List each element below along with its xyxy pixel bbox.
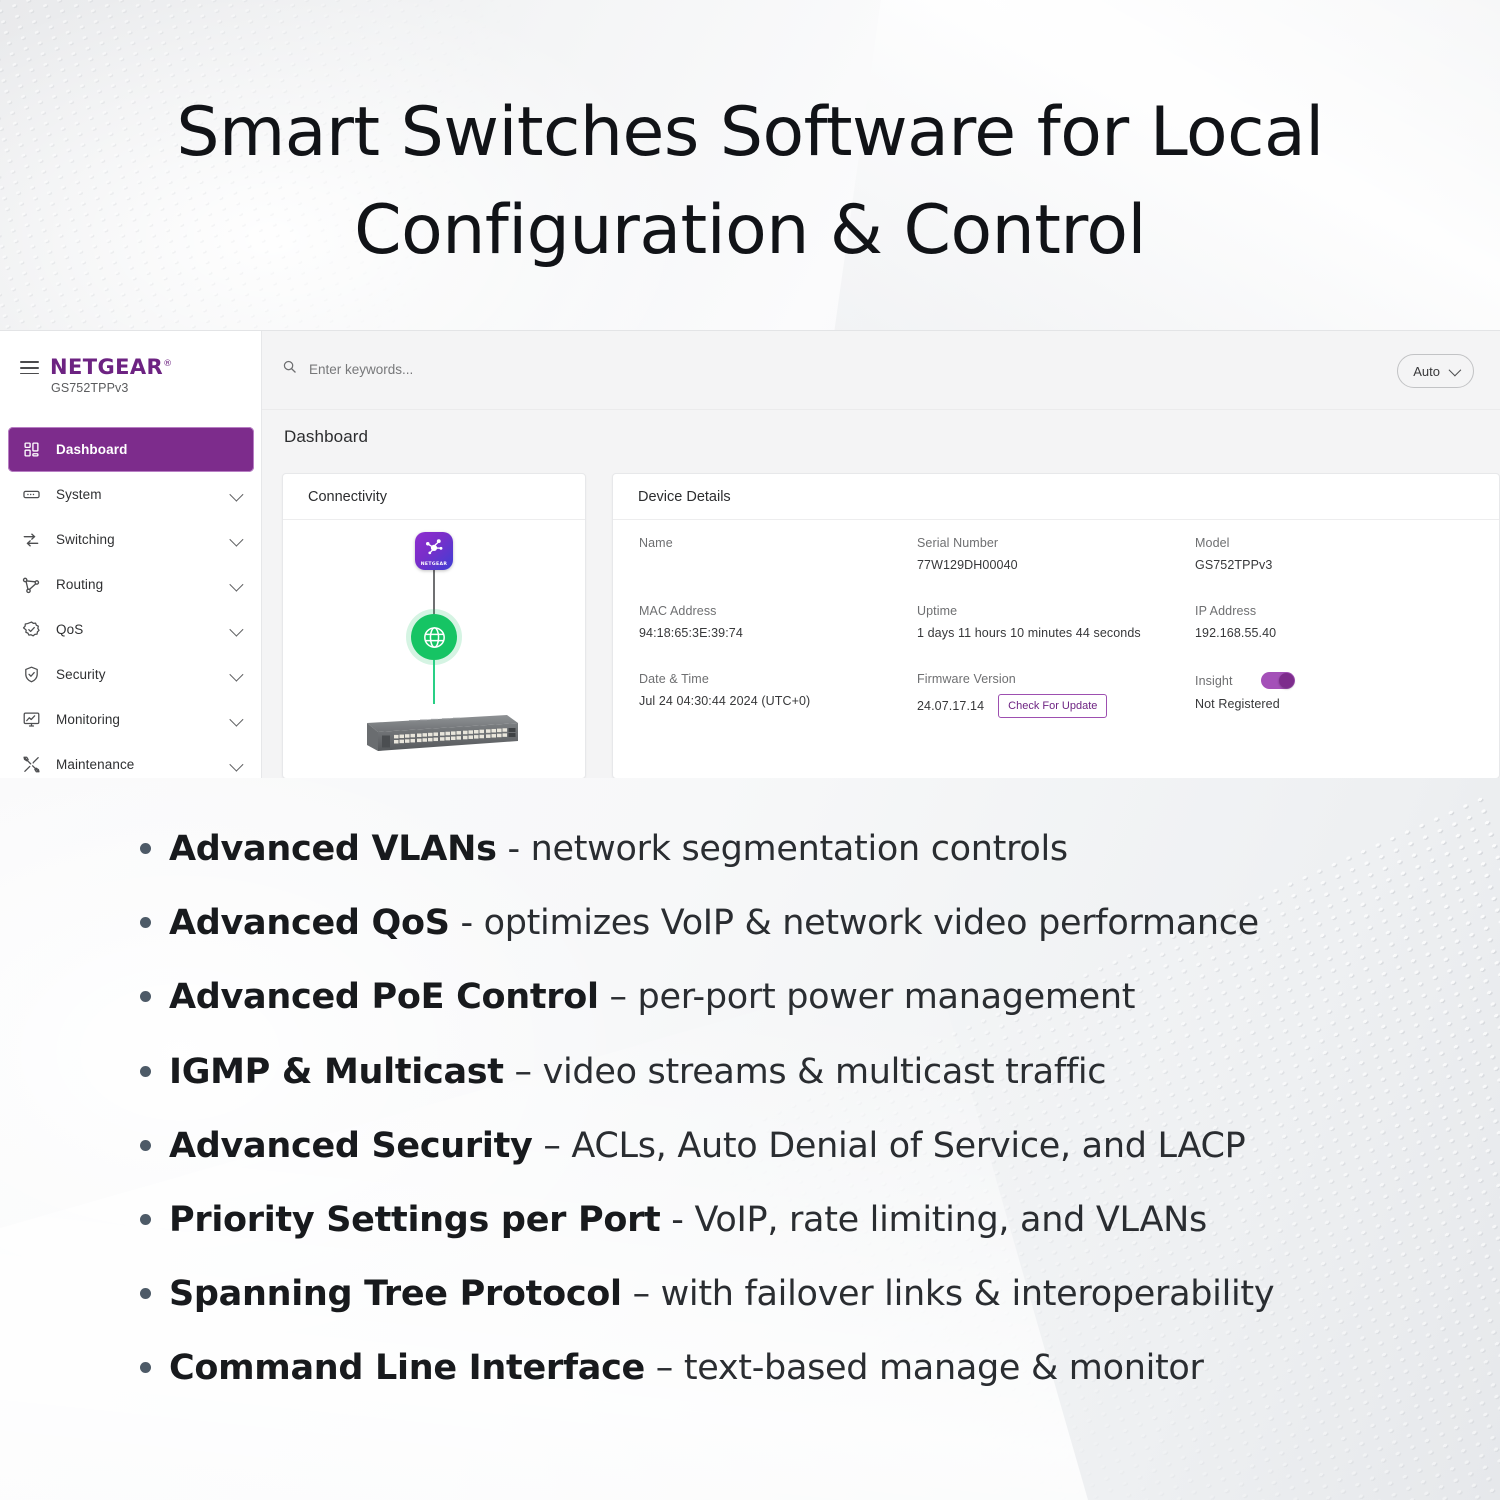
- feature-desc: – video streams & multicast traffic: [504, 1052, 1107, 1092]
- field-value: Jul 24 04:30:44 2024 (UTC+0): [639, 694, 917, 708]
- hamburger-icon[interactable]: [20, 361, 39, 375]
- feature-text: Command Line Interface – text-based mana…: [169, 1349, 1204, 1388]
- feature-title: Advanced VLANs: [169, 829, 497, 869]
- connectivity-card-body: NETGEAR: [283, 520, 585, 778]
- switching-icon: [20, 529, 42, 551]
- feature-title: Spanning Tree Protocol: [169, 1274, 622, 1314]
- feature-desc: – per-port power management: [599, 977, 1136, 1017]
- hero-title: Smart Switches Software for Local Config…: [0, 84, 1500, 280]
- toggle-knob: [1279, 673, 1294, 688]
- sidebar-item-label: Security: [56, 667, 106, 682]
- field-value: Not Registered: [1195, 697, 1473, 711]
- connectivity-card: Connectivity: [282, 473, 586, 779]
- feature-desc: - optimizes VoIP & network video perform…: [450, 903, 1259, 943]
- feature-item: Advanced VLANs - network segmentation co…: [140, 830, 1440, 869]
- sidebar-item-label: Routing: [56, 577, 103, 592]
- sidebar-item-label: Monitoring: [56, 712, 120, 727]
- field-value: 1 days 11 hours 10 minutes 44 seconds: [917, 626, 1195, 640]
- sidebar-item-routing[interactable]: Routing: [8, 562, 254, 607]
- insight-toggle[interactable]: [1261, 672, 1295, 689]
- system-icon: [20, 484, 42, 506]
- chevron-down-icon: [229, 667, 243, 681]
- sidebar-item-label: Maintenance: [56, 757, 134, 772]
- sidebar-item-monitoring[interactable]: Monitoring: [8, 697, 254, 742]
- feature-desc: – ACLs, Auto Denial of Service, and LACP: [533, 1126, 1246, 1166]
- field-key: Uptime: [917, 604, 1195, 618]
- sidebar-item-qos[interactable]: QoS: [8, 607, 254, 652]
- field-key: Insight: [1195, 674, 1233, 688]
- bullet-icon: [140, 1214, 151, 1225]
- device-field-ip-address: IP Address 192.168.55.40: [1195, 604, 1473, 640]
- device-field-uptime: Uptime 1 days 11 hours 10 minutes 44 sec…: [917, 604, 1195, 640]
- switch-management-ui: NETGEAR® GS752TPPv3 Dashboard: [0, 330, 1500, 780]
- device-details-card-title: Device Details: [613, 474, 1499, 520]
- search-icon: [282, 359, 297, 379]
- chevron-down-icon: [229, 757, 243, 771]
- field-key: IP Address: [1195, 604, 1473, 618]
- search-bar[interactable]: [282, 359, 651, 379]
- feature-item: Advanced PoE Control – per-port power ma…: [140, 978, 1440, 1017]
- device-details-card: Device Details Name Serial Number 77W129…: [612, 473, 1500, 779]
- chevron-down-icon: [1449, 363, 1462, 376]
- connectivity-card-title: Connectivity: [283, 474, 585, 520]
- qos-icon: [20, 619, 42, 641]
- device-field-firmware-version: Firmware Version 24.07.17.14 Check For U…: [917, 672, 1195, 718]
- feature-desc: – with failover links & interoperability: [622, 1274, 1275, 1314]
- bullet-icon: [140, 1140, 151, 1151]
- feature-title: Command Line Interface: [169, 1348, 645, 1388]
- security-icon: [20, 664, 42, 686]
- feature-title: Advanced Security: [169, 1126, 533, 1166]
- connectivity-topology: NETGEAR: [283, 532, 585, 752]
- maintenance-icon: [20, 754, 42, 776]
- feature-title: Priority Settings per Port: [169, 1200, 660, 1240]
- device-model-label: GS752TPPv3: [51, 381, 128, 395]
- registered-mark: ®: [163, 359, 172, 369]
- feature-text: Advanced Security – ACLs, Auto Denial of…: [169, 1127, 1245, 1166]
- bullet-icon: [140, 1066, 151, 1077]
- sidebar-item-label: Switching: [56, 532, 115, 547]
- device-field-model: Model GS752TPPv3: [1195, 536, 1473, 572]
- device-field-name: Name: [639, 536, 917, 572]
- device-field-serial-number: Serial Number 77W129DH00040: [917, 536, 1195, 572]
- mode-selector-label: Auto: [1413, 364, 1440, 379]
- page-title: Dashboard: [284, 427, 368, 447]
- features-list: Advanced VLANs - network segmentation co…: [140, 830, 1440, 1424]
- feature-desc: - VoIP, rate limiting, and VLANs: [660, 1200, 1206, 1240]
- field-value: 77W129DH00040: [917, 558, 1195, 572]
- insight-header: Insight: [1195, 672, 1473, 689]
- netgear-insight-app-icon[interactable]: NETGEAR: [415, 532, 453, 570]
- chevron-down-icon: [229, 487, 243, 501]
- link-cloud-to-internet: [433, 570, 435, 614]
- feature-title: Advanced PoE Control: [169, 977, 599, 1017]
- sidebar-item-switching[interactable]: Switching: [8, 517, 254, 562]
- feature-item: IGMP & Multicast – video streams & multi…: [140, 1053, 1440, 1092]
- sidebar-item-dashboard[interactable]: Dashboard: [8, 427, 254, 472]
- bullet-icon: [140, 1288, 151, 1299]
- feature-desc: – text-based manage & monitor: [645, 1348, 1204, 1388]
- field-key: Serial Number: [917, 536, 1195, 550]
- device-field-insight: Insight Not Registered: [1195, 672, 1473, 718]
- field-value: 24.07.17.14: [917, 699, 984, 713]
- field-key: MAC Address: [639, 604, 917, 618]
- feature-title: Advanced QoS: [169, 903, 450, 943]
- sidebar-item-system[interactable]: System: [8, 472, 254, 517]
- routing-icon: [20, 574, 42, 596]
- top-bar: Auto: [262, 331, 1500, 410]
- sidebar-item-security[interactable]: Security: [8, 652, 254, 697]
- feature-text: Advanced PoE Control – per-port power ma…: [169, 978, 1135, 1017]
- field-value: 94:18:65:3E:39:74: [639, 626, 917, 640]
- main-content: Auto Dashboard Connectivity: [262, 331, 1500, 779]
- network-molecule-glyph: [415, 533, 453, 561]
- bullet-icon: [140, 1362, 151, 1373]
- feature-item: Spanning Tree Protocol – with failover l…: [140, 1275, 1440, 1314]
- device-field-date-time: Date & Time Jul 24 04:30:44 2024 (UTC+0): [639, 672, 917, 718]
- network-switch-image: [349, 708, 519, 752]
- feature-item: Priority Settings per Port - VoIP, rate …: [140, 1201, 1440, 1240]
- feature-item: Command Line Interface – text-based mana…: [140, 1349, 1440, 1388]
- mode-selector-dropdown[interactable]: Auto: [1397, 354, 1474, 388]
- feature-text: Priority Settings per Port - VoIP, rate …: [169, 1201, 1207, 1240]
- sidebar-item-label: QoS: [56, 622, 83, 637]
- device-details-grid: Name Serial Number 77W129DH00040 Model G…: [639, 536, 1473, 718]
- feature-text: IGMP & Multicast – video streams & multi…: [169, 1053, 1106, 1092]
- field-key: Firmware Version: [917, 672, 1195, 686]
- field-key: Model: [1195, 536, 1473, 550]
- bullet-icon: [140, 991, 151, 1002]
- sidebar-item-label: Dashboard: [56, 442, 127, 457]
- sidebar-item-maintenance[interactable]: Maintenance: [8, 742, 254, 780]
- search-input[interactable]: [307, 361, 651, 378]
- insight-icon-brand-label: NETGEAR: [415, 562, 453, 567]
- check-for-update-button[interactable]: Check For Update: [998, 694, 1107, 718]
- feature-item: Advanced QoS - optimizes VoIP & network …: [140, 904, 1440, 943]
- sidebar-item-label: System: [56, 487, 102, 502]
- feature-item: Advanced Security – ACLs, Auto Denial of…: [140, 1127, 1440, 1166]
- dashboard-icon: [20, 439, 42, 461]
- netgear-logo: NETGEAR®: [50, 355, 172, 379]
- chevron-down-icon: [229, 577, 243, 591]
- feature-text: Spanning Tree Protocol – with failover l…: [169, 1275, 1274, 1314]
- chevron-down-icon: [229, 712, 243, 726]
- hero-banner: Smart Switches Software for Local Config…: [0, 0, 1500, 330]
- feature-text: Advanced QoS - optimizes VoIP & network …: [169, 904, 1259, 943]
- feature-desc: - network segmentation controls: [497, 829, 1068, 869]
- field-key: Name: [639, 536, 917, 550]
- device-details-card-body: Name Serial Number 77W129DH00040 Model G…: [613, 520, 1499, 778]
- device-field-mac-address: MAC Address 94:18:65:3E:39:74: [639, 604, 917, 640]
- field-key: Date & Time: [639, 672, 917, 686]
- netgear-logo-text: NETGEAR: [50, 355, 163, 379]
- globe-icon: [411, 614, 457, 660]
- monitoring-icon: [20, 709, 42, 731]
- dashboard-cards: Connectivity: [282, 473, 1500, 779]
- sidebar: NETGEAR® GS752TPPv3 Dashboard: [0, 331, 262, 779]
- feature-text: Advanced VLANs - network segmentation co…: [169, 830, 1068, 869]
- bullet-icon: [140, 843, 151, 854]
- chevron-down-icon: [229, 532, 243, 546]
- chevron-down-icon: [229, 622, 243, 636]
- field-value: GS752TPPv3: [1195, 558, 1473, 572]
- feature-title: IGMP & Multicast: [169, 1052, 504, 1092]
- link-internet-to-switch: [433, 660, 435, 704]
- features-section: Advanced VLANs - network segmentation co…: [0, 778, 1500, 1500]
- brand-header: NETGEAR® GS752TPPv3: [0, 353, 262, 413]
- field-value: 192.168.55.40: [1195, 626, 1473, 640]
- firmware-row: 24.07.17.14 Check For Update: [917, 694, 1195, 718]
- bullet-icon: [140, 917, 151, 928]
- sidebar-nav: Dashboard System: [0, 427, 262, 780]
